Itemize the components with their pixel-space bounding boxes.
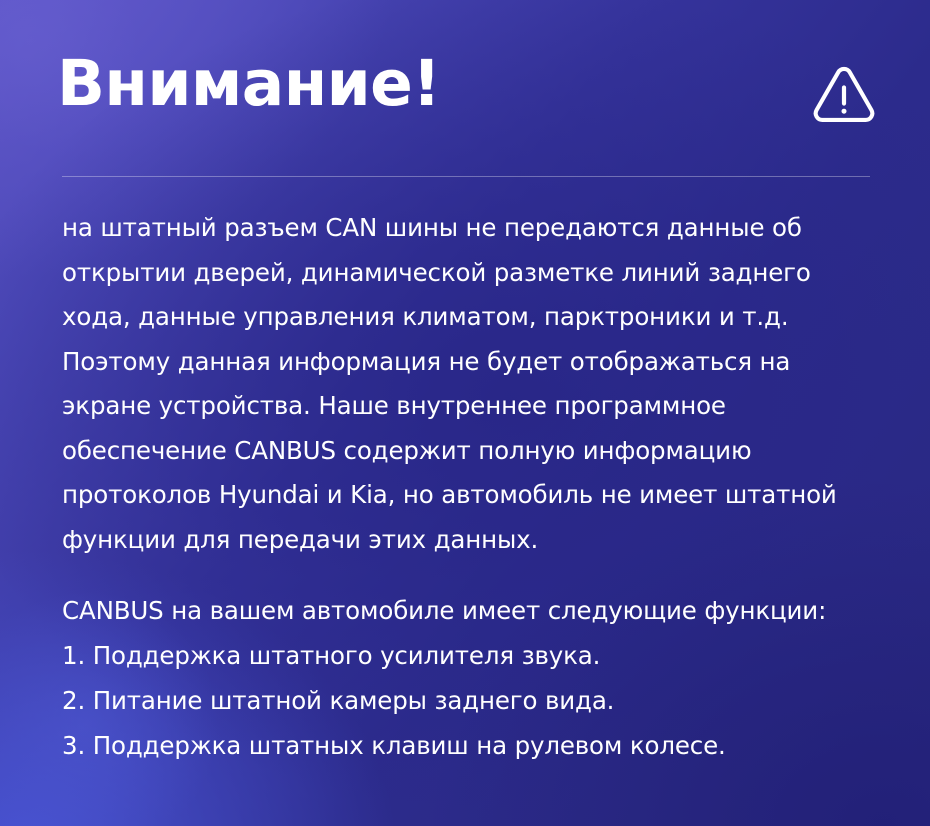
warning-paragraph: на штатный разъем CAN шины не передаются…: [62, 206, 880, 562]
list-item: 3. Поддержка штатных клавиш на рулевом к…: [62, 723, 882, 768]
body-text-block: на штатный разъем CAN шины не передаются…: [62, 206, 882, 562]
header-divider: [62, 176, 870, 177]
feature-list-block: CANBUS на вашем автомобиле имеет следующ…: [62, 588, 882, 768]
warning-triangle-icon: [812, 66, 876, 126]
banner-header: Внимание!: [0, 0, 930, 160]
list-item: 2. Питание штатной камеры заднего вида.: [62, 678, 882, 723]
feature-list-intro: CANBUS на вашем автомобиле имеет следующ…: [62, 588, 882, 633]
list-item: 1. Поддержка штатного усилителя звука.: [62, 633, 882, 678]
warning-banner: Внимание! на штатный разъем CAN шины не …: [0, 0, 930, 826]
page-title: Внимание!: [57, 52, 440, 115]
